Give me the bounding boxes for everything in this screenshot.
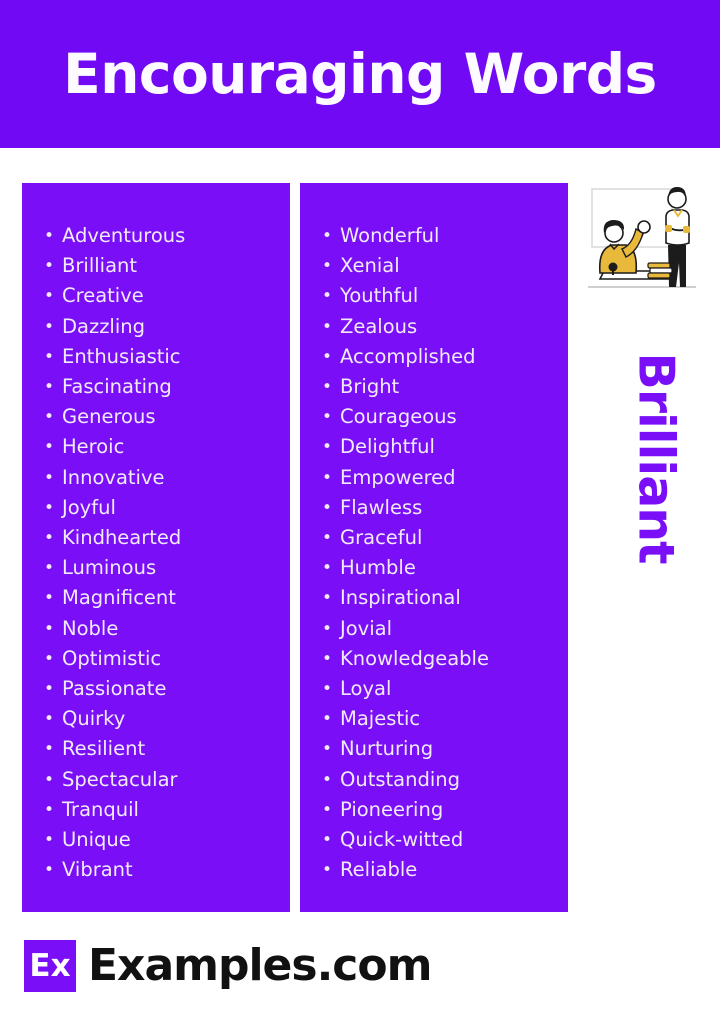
word-item: Empowered [318, 463, 558, 493]
word-item: Unique [40, 825, 280, 855]
word-item: Joyful [40, 493, 280, 523]
word-item: Noble [40, 614, 280, 644]
word-item: Jovial [318, 614, 558, 644]
page-header: Encouraging Words [0, 0, 720, 148]
word-item: Tranquil [40, 795, 280, 825]
word-item: Xenial [318, 251, 558, 281]
word-panel-left: AdventurousBrilliantCreativeDazzlingEnth… [22, 183, 290, 912]
word-item: Spectacular [40, 765, 280, 795]
word-item: Nurturing [318, 734, 558, 764]
word-item: Delightful [318, 432, 558, 462]
classroom-illustration [586, 183, 698, 301]
word-item: Courageous [318, 402, 558, 432]
word-item: Graceful [318, 523, 558, 553]
word-list-right: WonderfulXenialYouthfulZealousAccomplish… [318, 221, 558, 885]
word-item: Zealous [318, 312, 558, 342]
word-item: Optimistic [40, 644, 280, 674]
word-item: Resilient [40, 734, 280, 764]
brand-name: Examples.com [88, 944, 431, 988]
word-item: Wonderful [318, 221, 558, 251]
right-rail: Brilliant [578, 183, 708, 912]
word-list-left: AdventurousBrilliantCreativeDazzlingEnth… [40, 221, 280, 885]
word-columns: AdventurousBrilliantCreativeDazzlingEnth… [22, 183, 568, 912]
word-item: Passionate [40, 674, 280, 704]
word-item: Quick-witted [318, 825, 558, 855]
word-item: Majestic [318, 704, 558, 734]
word-item: Kindhearted [40, 523, 280, 553]
word-item: Humble [318, 553, 558, 583]
page-title: Encouraging Words [63, 47, 657, 102]
word-item: Reliable [318, 855, 558, 885]
word-item: Pioneering [318, 795, 558, 825]
word-item: Loyal [318, 674, 558, 704]
word-panel-right: WonderfulXenialYouthfulZealousAccomplish… [300, 183, 568, 912]
word-item: Enthusiastic [40, 342, 280, 372]
word-item: Brilliant [40, 251, 280, 281]
word-item: Accomplished [318, 342, 558, 372]
word-item: Generous [40, 402, 280, 432]
word-item: Youthful [318, 281, 558, 311]
word-item: Creative [40, 281, 280, 311]
word-item: Bright [318, 372, 558, 402]
vertical-featured-word: Brilliant [632, 353, 681, 663]
word-item: Innovative [40, 463, 280, 493]
word-item: Outstanding [318, 765, 558, 795]
word-item: Vibrant [40, 855, 280, 885]
brand-footer[interactable]: Ex Examples.com [24, 940, 431, 992]
word-item: Fascinating [40, 372, 280, 402]
word-item: Dazzling [40, 312, 280, 342]
examples-logo-icon: Ex [24, 940, 76, 992]
word-item: Quirky [40, 704, 280, 734]
word-item: Inspirational [318, 583, 558, 613]
word-item: Knowledgeable [318, 644, 558, 674]
word-item: Luminous [40, 553, 280, 583]
word-item: Adventurous [40, 221, 280, 251]
word-item: Magnificent [40, 583, 280, 613]
word-item: Flawless [318, 493, 558, 523]
word-item: Heroic [40, 432, 280, 462]
